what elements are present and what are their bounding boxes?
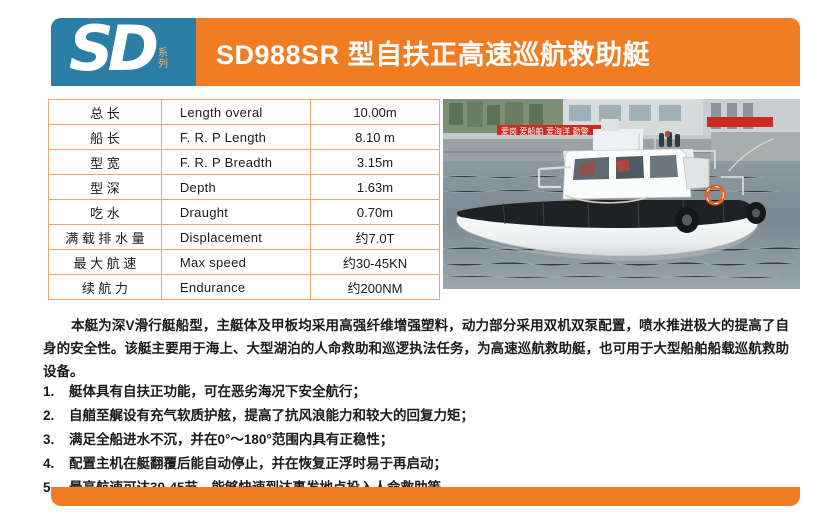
spec-value: 8.10 m <box>311 125 440 150</box>
list-item: 1. 艇体具有自扶正功能，可在恶劣海况下安全航行； <box>43 381 603 404</box>
spec-label-en: Displacement <box>161 225 310 250</box>
spec-label-cn: 满 载 排 水 量 <box>49 225 162 250</box>
spec-label-en: F. R. P Length <box>161 125 310 150</box>
spec-label-cn: 总 长 <box>49 100 162 125</box>
table-row: 续 航 力 Endurance 约200NM <box>49 275 440 300</box>
brochure-page: SD HiSiBi 系列 SD988SR 型自扶正高速巡航救助艇 总 长 Len… <box>0 0 830 514</box>
spec-label-cn: 续 航 力 <box>49 275 162 300</box>
spec-label-cn: 最 大 航 速 <box>49 250 162 275</box>
list-item: 2. 自艏至艉设有充气软质护舷，提高了抗风浪能力和较大的回复力矩； <box>43 405 603 428</box>
spec-value: 约7.0T <box>311 225 440 250</box>
page-header: SD HiSiBi 系列 SD988SR 型自扶正高速巡航救助艇 <box>51 18 800 86</box>
spec-label-cn: 型 宽 <box>49 150 162 175</box>
spec-label-cn: 型 深 <box>49 175 162 200</box>
table-row: 总 长 Length overal 10.00m <box>49 100 440 125</box>
list-item-number: 2. <box>43 405 69 428</box>
description-paragraph: 本艇为深V滑行艇船型，主艇体及甲板均采用高强纤维增强塑料，动力部分采用双机双泵配… <box>43 314 789 383</box>
spec-label-cn: 船 长 <box>49 125 162 150</box>
spec-label-en: F. R. P Breadth <box>161 150 310 175</box>
table-row: 型 宽 F. R. P Breadth 3.15m <box>49 150 440 175</box>
spec-value: 0.70m <box>311 200 440 225</box>
logo-hisibi-text: HiSiBi <box>113 36 124 67</box>
header-title-bar: SD988SR 型自扶正高速巡航救助艇 <box>196 18 800 86</box>
spec-label-en: Length overal <box>161 100 310 125</box>
spec-value: 3.15m <box>311 150 440 175</box>
footer-bar <box>51 487 800 506</box>
page-title: SD988SR 型自扶正高速巡航救助艇 <box>216 33 650 72</box>
spec-label-en: Max speed <box>161 250 310 275</box>
logo-series-text: 系列 <box>155 48 171 70</box>
spec-value: 10.00m <box>311 100 440 125</box>
list-item-text: 自艏至艉设有充气软质护舷，提高了抗风浪能力和较大的回复力矩； <box>69 405 603 428</box>
spec-label-en: Depth <box>161 175 310 200</box>
list-item: 3. 满足全船进水不沉，并在0°～180°范围内具有正稳性； <box>43 429 603 452</box>
list-item-text: 满足全船进水不沉，并在0°～180°范围内具有正稳性； <box>69 429 603 452</box>
feature-list: 1. 艇体具有自扶正功能，可在恶劣海况下安全航行； 2. 自艏至艉设有充气软质护… <box>43 381 603 501</box>
list-item: 4. 配置主机在艇翻覆后能自动停止，并在恢复正浮时易于再启动； <box>43 453 603 476</box>
boat-photo: 爱岗 爱船舶 爱海洋 勤警 <box>443 99 800 289</box>
list-item-text: 艇体具有自扶正功能，可在恶劣海况下安全航行； <box>69 381 603 404</box>
list-item-text: 配置主机在艇翻覆后能自动停止，并在恢复正浮时易于再启动； <box>69 453 603 476</box>
table-row: 船 长 F. R. P Length 8.10 m <box>49 125 440 150</box>
spec-label-en: Draught <box>161 200 310 225</box>
svg-text:爱岗 爱船舶 爱海洋 勤警: 爱岗 爱船舶 爱海洋 勤警 <box>501 126 589 136</box>
list-item-number: 4. <box>43 453 69 476</box>
spec-value: 约200NM <box>311 275 440 300</box>
table-row: 吃 水 Draught 0.70m <box>49 200 440 225</box>
specification-table: 总 长 Length overal 10.00m 船 长 F. R. P Len… <box>48 99 440 300</box>
list-item-number: 1. <box>43 381 69 404</box>
logo-monogram-text: SD <box>69 18 153 84</box>
spec-table-body: 总 长 Length overal 10.00m 船 长 F. R. P Len… <box>49 100 440 300</box>
table-row: 满 载 排 水 量 Displacement 约7.0T <box>49 225 440 250</box>
spec-value: 1.63m <box>311 175 440 200</box>
spec-value: 约30-45KN <box>311 250 440 275</box>
spec-label-cn: 吃 水 <box>49 200 162 225</box>
list-item-number: 3. <box>43 429 69 452</box>
spec-label-en: Endurance <box>161 275 310 300</box>
boat-photo-illustration: 爱岗 爱船舶 爱海洋 勤警 <box>443 99 800 289</box>
table-row: 型 深 Depth 1.63m <box>49 175 440 200</box>
brand-logo: SD HiSiBi 系列 <box>51 18 196 86</box>
table-row: 最 大 航 速 Max speed 约30-45KN <box>49 250 440 275</box>
